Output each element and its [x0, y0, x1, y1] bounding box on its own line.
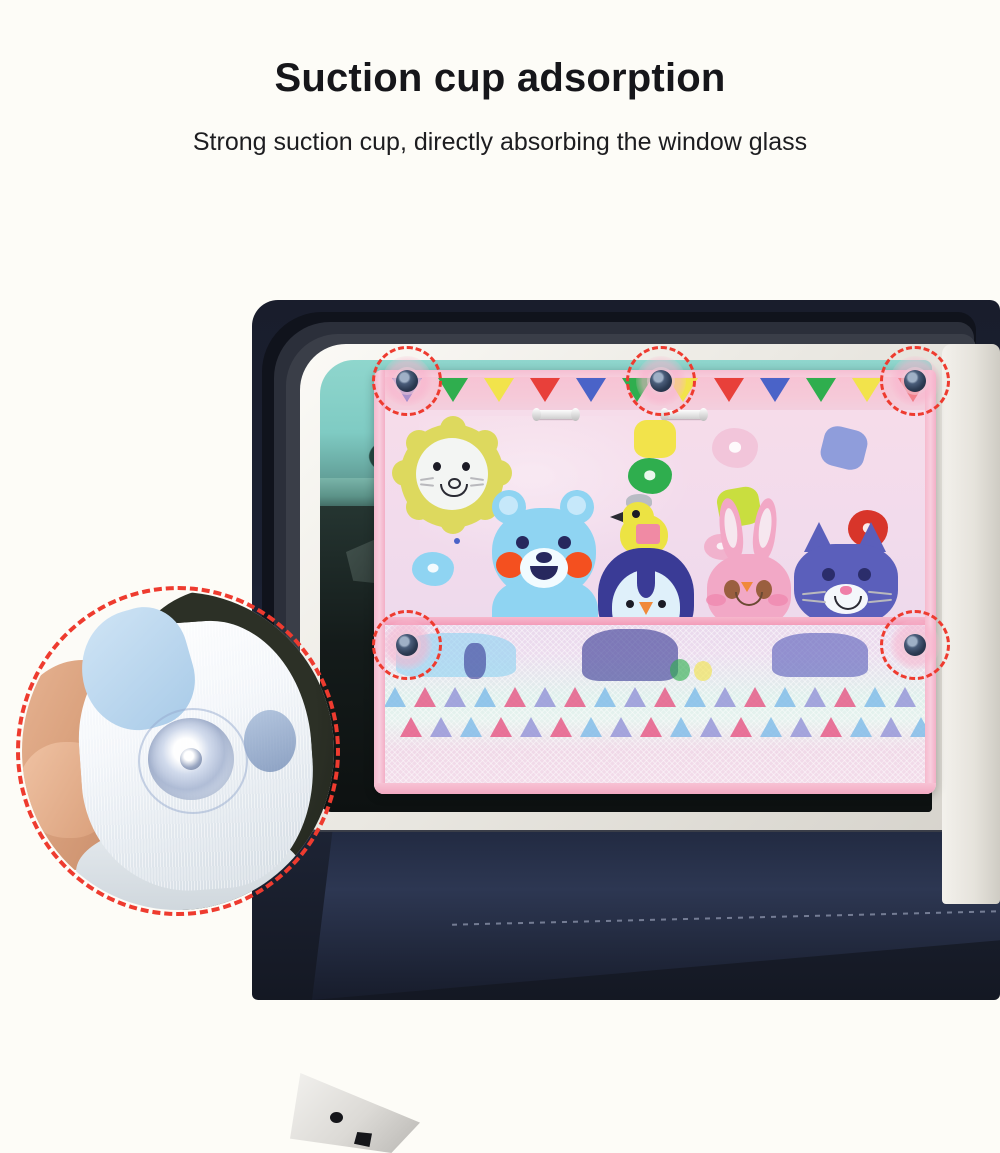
pocket-cat-body — [772, 633, 868, 677]
bird-beak — [610, 512, 623, 522]
penguin-eye-right — [658, 600, 666, 608]
decor-blob-blue-left — [412, 552, 454, 586]
pocket-triangle — [550, 717, 572, 737]
bird-eye — [632, 510, 640, 518]
pocket-triangle — [474, 687, 496, 707]
car-photo — [252, 300, 1000, 1000]
decor-dot-3 — [454, 538, 460, 544]
pocket-triangle — [864, 687, 886, 707]
marker-ring-bottom-right — [880, 610, 950, 680]
pocket-triangle — [730, 717, 752, 737]
pocket-triangle — [624, 687, 646, 707]
rabbit-nose — [741, 582, 753, 592]
bird-wing — [636, 524, 660, 544]
penguin-head-notch — [637, 568, 655, 598]
cat-eye-left — [822, 568, 835, 581]
bunting-flag — [852, 378, 882, 402]
pocket-triangle — [460, 717, 482, 737]
shade-binding-left — [374, 370, 385, 794]
pocket-triangle — [820, 717, 842, 737]
bunting-flag — [484, 378, 514, 402]
car-b-pillar — [942, 344, 1000, 904]
pocket-triangle — [700, 717, 722, 737]
bunting-flag — [438, 378, 468, 402]
pocket-triangle — [594, 687, 616, 707]
bunting-flag — [576, 378, 606, 402]
bunting-flag — [806, 378, 836, 402]
bear-cheek-right — [564, 552, 592, 578]
pocket-triangle — [430, 717, 452, 737]
bear-eye-right — [558, 536, 571, 549]
hook-loop-left[interactable] — [534, 410, 578, 419]
pocket-triangle — [640, 717, 662, 737]
pocket-triangle — [444, 687, 466, 707]
bear-eye-left — [516, 536, 529, 549]
penguin-eye-left — [626, 600, 634, 608]
pocket-triangle — [520, 717, 542, 737]
decor-blob-yellow — [634, 420, 676, 458]
page-title: Suction cup adsorption — [0, 56, 1000, 101]
marker-ring-closeup — [16, 586, 340, 916]
triangle-row-upper — [374, 687, 936, 721]
pocket-triangle — [654, 687, 676, 707]
pocket-triangle — [760, 717, 782, 737]
lion-whisker — [420, 477, 434, 481]
lion-eye-left — [433, 462, 441, 471]
penguin-beak — [639, 602, 653, 615]
sunshade-curtain[interactable] — [374, 370, 936, 794]
marker-ring-top-center — [626, 346, 696, 416]
lion-whisker — [470, 483, 484, 486]
pocket-triangle — [490, 717, 512, 737]
pocket-triangle — [580, 717, 602, 737]
lion-mane-scallop — [440, 508, 466, 534]
door-trim-dot — [330, 1112, 343, 1123]
bear-nose — [536, 552, 552, 563]
pocket-triangle — [684, 687, 706, 707]
pocket-detail — [694, 661, 712, 681]
mesh-storage-pocket[interactable] — [374, 617, 936, 783]
cat-eye-right — [858, 568, 871, 581]
pocket-triangle — [414, 687, 436, 707]
cat-nose — [840, 586, 852, 595]
triangle-row-lower — [374, 717, 936, 751]
pocket-triangle — [790, 717, 812, 737]
character-lion — [400, 424, 504, 528]
rabbit-ear-right — [750, 497, 779, 561]
pocket-triangle — [610, 717, 632, 737]
lion-whisker — [420, 483, 434, 486]
lion-face — [416, 438, 488, 510]
pocket-triangle — [714, 687, 736, 707]
lion-eye-right — [462, 462, 470, 471]
pocket-triangle — [534, 687, 556, 707]
pocket-triangle — [804, 687, 826, 707]
pocket-penguin-body — [582, 629, 678, 681]
lion-mane-scallop — [392, 460, 418, 486]
pocket-triangle — [504, 687, 526, 707]
pocket-detail — [464, 643, 486, 679]
pocket-triangle — [834, 687, 856, 707]
bunting-flag — [714, 378, 744, 402]
pocket-triangle — [384, 687, 406, 707]
pocket-detail — [670, 659, 690, 681]
marker-ring-top-right — [880, 346, 950, 416]
shade-binding-right — [925, 370, 936, 794]
pocket-triangle — [744, 687, 766, 707]
decor-blob-green — [628, 458, 672, 494]
marker-ring-top-left — [372, 346, 442, 416]
pocket-triangle — [400, 717, 422, 737]
decor-blob-pink-flower — [712, 428, 758, 468]
pocket-triangle — [894, 687, 916, 707]
bunting-flag — [530, 378, 560, 402]
lion-mouth — [440, 484, 468, 497]
marker-ring-bottom-left — [372, 610, 442, 680]
rabbit-cheek-right — [768, 594, 788, 606]
pocket-triangle — [564, 687, 586, 707]
lion-mane-scallop — [486, 460, 512, 486]
shade-binding-bottom — [374, 783, 936, 794]
rabbit-cheek-left — [706, 594, 726, 606]
lion-whisker — [470, 477, 484, 481]
bunting-flag — [760, 378, 790, 402]
pocket-top-binding — [374, 617, 936, 625]
pocket-triangle — [670, 717, 692, 737]
suction-cup-closeup-inset — [16, 586, 340, 916]
pocket-triangle — [774, 687, 796, 707]
pocket-triangle — [880, 717, 902, 737]
rabbit-ear-left — [716, 497, 745, 561]
pocket-triangle — [850, 717, 872, 737]
product-image-stage: Suction cup adsorption Strong suction cu… — [0, 0, 1000, 1000]
page-subtitle: Strong suction cup, directly absorbing t… — [0, 128, 1000, 157]
